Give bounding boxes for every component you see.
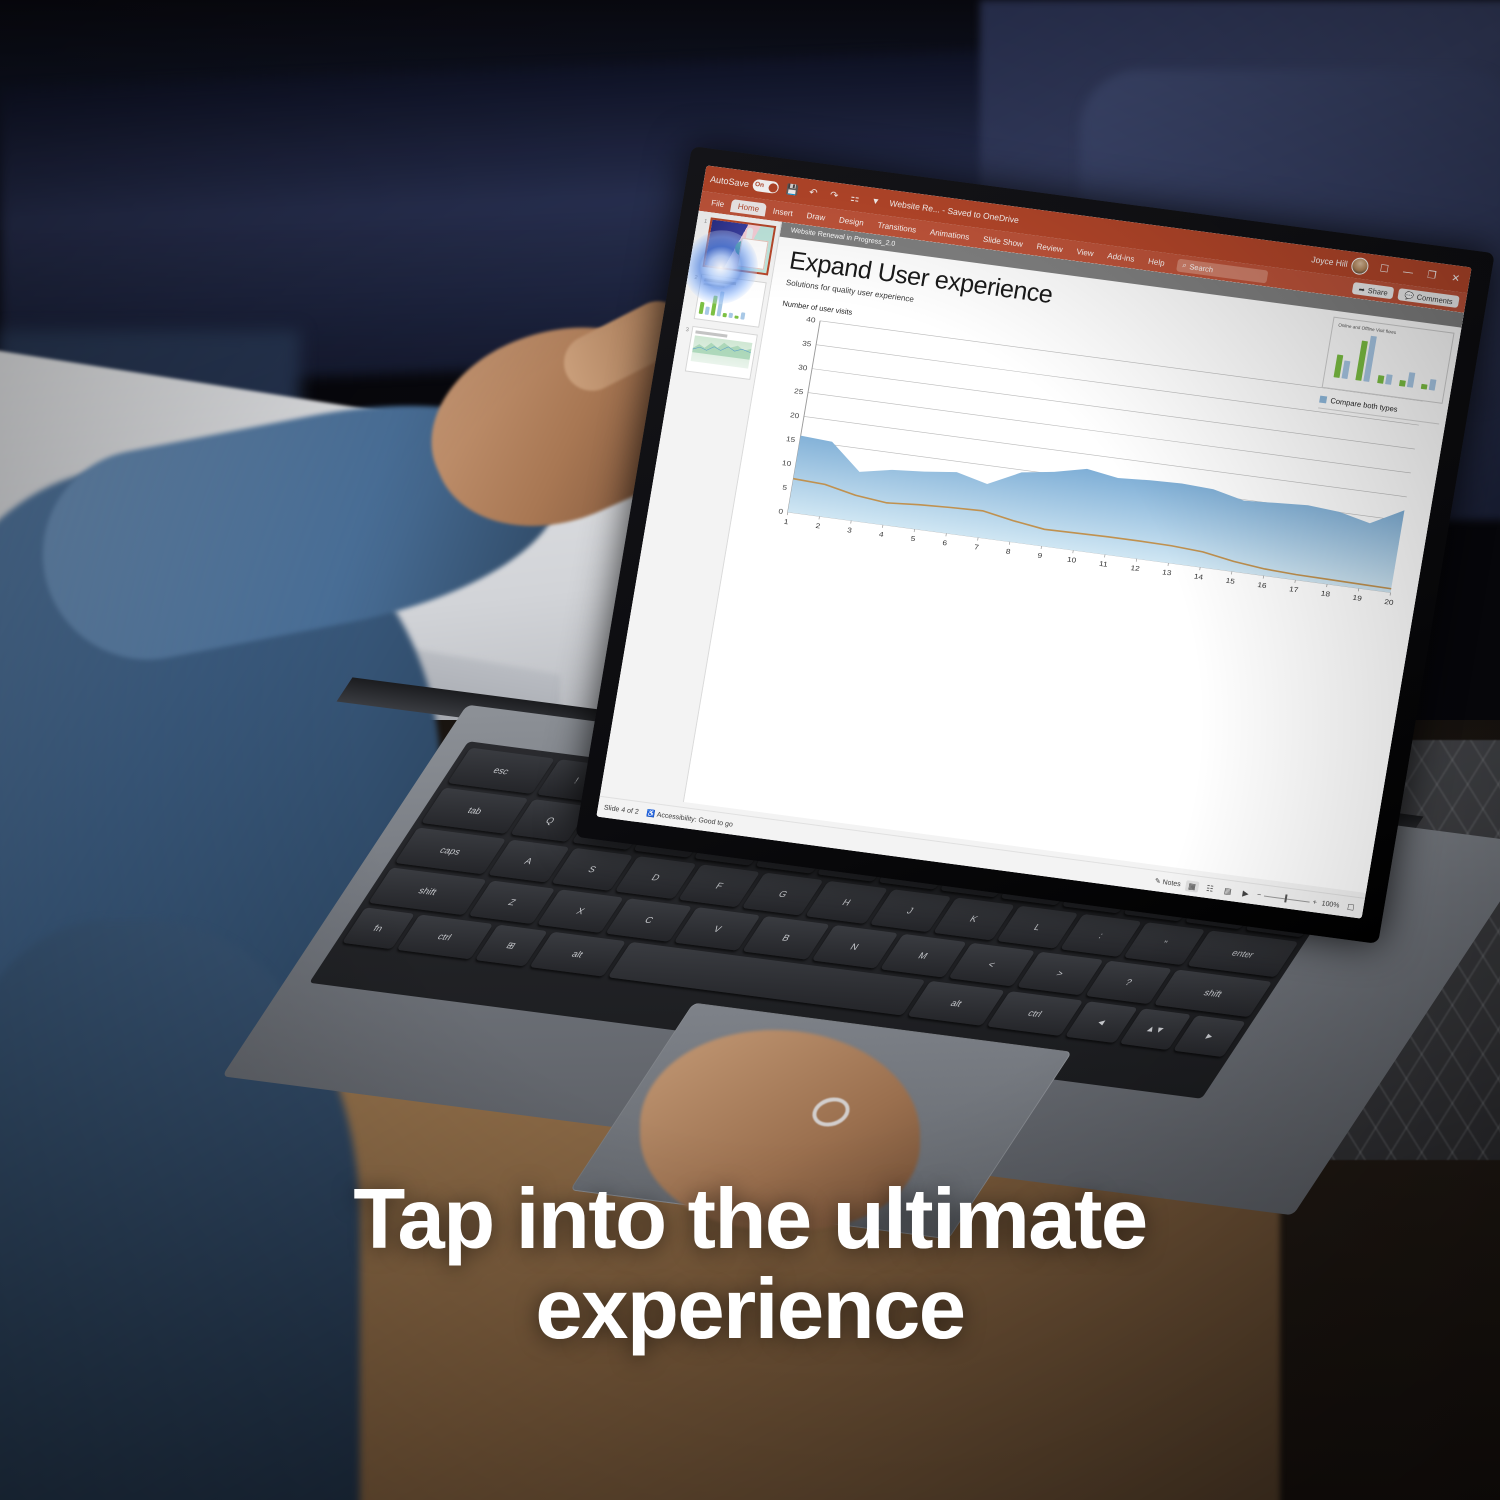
slide-canvas[interactable]: Website Renewal in Progress_2.0 Expand U… — [684, 222, 1464, 893]
svg-text:20: 20 — [1384, 598, 1394, 607]
svg-text:6: 6 — [942, 539, 948, 548]
svg-text:16: 16 — [1257, 581, 1267, 590]
close-button[interactable]: ✕ — [1447, 272, 1465, 285]
notes-icon: ✎ — [1154, 877, 1161, 886]
key-caps[interactable]: caps — [395, 828, 506, 875]
save-icon[interactable]: 💾 — [784, 182, 800, 198]
slide-sorter-icon[interactable]: ☷ — [1203, 882, 1218, 895]
svg-text:30: 30 — [798, 363, 808, 372]
tab-home[interactable]: Home — [730, 199, 767, 217]
svg-text:15: 15 — [1225, 576, 1235, 585]
svg-text:18: 18 — [1320, 589, 1330, 598]
work-area: 1 2 — [601, 211, 1464, 893]
inset-bar — [1428, 378, 1436, 390]
slide-preview-card — [737, 238, 768, 270]
share-label: Share — [1367, 286, 1388, 298]
chevron-down-icon[interactable]: ▾ — [868, 193, 884, 209]
slide-number: 3 — [682, 325, 689, 334]
svg-text:14: 14 — [1193, 572, 1204, 581]
normal-view-icon[interactable]: ▦ — [1185, 880, 1200, 893]
svg-text:10: 10 — [781, 459, 791, 468]
inset-bar — [1407, 372, 1415, 387]
fit-slide-icon[interactable]: ☐ — [1343, 901, 1358, 914]
current-slide[interactable]: Expand User experience Solutions for qua… — [684, 237, 1462, 893]
svg-text:3: 3 — [847, 526, 853, 535]
svg-text:11: 11 — [1098, 559, 1108, 568]
svg-text:13: 13 — [1162, 568, 1172, 577]
key-shift[interactable]: shift — [1154, 969, 1273, 1017]
search-placeholder: Search — [1189, 262, 1214, 274]
minimize-button[interactable]: — — [1399, 266, 1417, 279]
svg-text:1: 1 — [783, 517, 789, 526]
accessibility-icon: ♿ — [646, 810, 656, 818]
comments-label: Comments — [1416, 292, 1453, 306]
thumb-bar-chart — [699, 288, 761, 321]
inset-bar-chart[interactable]: Online and Offline Visit flows — [1322, 317, 1455, 404]
key-enter[interactable]: enter — [1187, 930, 1298, 977]
svg-text:12: 12 — [1130, 564, 1140, 573]
autosave-toggle[interactable]: On — [752, 179, 780, 194]
user-name: Joyce Hill — [1311, 254, 1349, 269]
thumb-area-chart — [691, 335, 753, 368]
ribbon-display-icon[interactable]: ☐ — [1375, 262, 1393, 275]
inset-bar-group — [1356, 335, 1377, 382]
thumb-subtitle-line — [703, 283, 724, 288]
slide-thumbnail-3[interactable] — [685, 326, 758, 380]
key-tab[interactable]: tab — [421, 788, 529, 834]
inset-bar-group — [1334, 355, 1351, 379]
zoom-in-button[interactable]: + — [1312, 899, 1317, 906]
share-button[interactable]: ➦ Share — [1352, 282, 1395, 299]
toggle-knob — [768, 182, 778, 192]
zoom-out-button[interactable]: − — [1256, 891, 1261, 898]
account-button[interactable]: Joyce Hill — [1310, 251, 1370, 275]
marketing-tagline: Tap into the ultimate experience — [0, 1175, 1500, 1355]
tagline-line-2: experience — [0, 1265, 1500, 1355]
slide-thumbnail-2[interactable] — [694, 274, 767, 328]
tab-insert[interactable]: Insert — [765, 203, 801, 220]
key-esc[interactable]: esc — [447, 748, 555, 794]
legend-swatch — [1319, 396, 1327, 404]
svg-text:19: 19 — [1352, 593, 1362, 602]
inset-bar-group — [1377, 373, 1392, 385]
svg-text:9: 9 — [1037, 551, 1043, 560]
svg-text:5: 5 — [910, 534, 916, 543]
slide-number: 1 — [701, 216, 708, 225]
zoom-slider[interactable]: − + — [1256, 891, 1317, 906]
tab-review[interactable]: Review — [1029, 238, 1071, 256]
inset-bar-group — [1399, 371, 1415, 387]
svg-text:35: 35 — [802, 339, 812, 348]
zoom-level[interactable]: 100% — [1321, 900, 1340, 909]
slide-position: Slide 4 of 2 — [603, 804, 639, 816]
laptop-screen: AutoSave On 💾 ↶ ↷ ⚏ ▾ Website Re... - Sa… — [596, 165, 1471, 918]
restore-button[interactable]: ❐ — [1423, 269, 1441, 282]
svg-text:2: 2 — [815, 522, 821, 531]
powerpoint-window: AutoSave On 💾 ↶ ↷ ⚏ ▾ Website Re... - Sa… — [596, 165, 1471, 918]
svg-text:20: 20 — [789, 411, 799, 420]
svg-text:7: 7 — [974, 543, 980, 552]
reading-view-icon[interactable]: ▤ — [1220, 884, 1235, 897]
svg-text:5: 5 — [782, 483, 788, 492]
inset-bar — [1385, 374, 1393, 385]
key-shift[interactable]: shift — [368, 867, 487, 915]
svg-text:10: 10 — [1066, 555, 1076, 564]
tagline-line-1: Tap into the ultimate — [0, 1175, 1500, 1265]
tab-view[interactable]: View — [1069, 244, 1102, 261]
slide-thumbnail-1[interactable] — [702, 217, 776, 275]
list-item[interactable]: 2 — [685, 272, 767, 327]
list-item[interactable]: 3 — [676, 325, 758, 380]
inset-bar — [1399, 380, 1406, 387]
svg-text:15: 15 — [785, 435, 795, 444]
share-icon: ➦ — [1358, 284, 1366, 294]
comment-icon: 💬 — [1404, 290, 1415, 300]
svg-text:40: 40 — [806, 315, 816, 324]
zoom-knob[interactable] — [1284, 894, 1287, 902]
tab-design[interactable]: Design — [831, 212, 872, 230]
autosave-label: AutoSave — [709, 174, 749, 189]
tab-draw[interactable]: Draw — [799, 208, 834, 225]
search-icon: ⌕ — [1182, 260, 1188, 270]
svg-text:8: 8 — [1005, 547, 1011, 556]
svg-text:25: 25 — [794, 387, 804, 396]
svg-text:0: 0 — [778, 507, 784, 516]
inset-bar — [1377, 375, 1384, 384]
notes-button[interactable]: ✎ Notes — [1154, 877, 1181, 888]
inset-bar — [1421, 384, 1428, 390]
redo-icon[interactable]: ↷ — [826, 188, 842, 204]
tab-help[interactable]: Help — [1140, 253, 1172, 270]
samsung-laptop: esc!@#$%^&*()—+⌫ tabQWERTYUIOP{}| capsAS… — [330, 190, 1460, 1150]
undo-icon[interactable]: ↶ — [805, 185, 821, 201]
inset-bar-group — [1421, 377, 1436, 390]
slide-show-icon[interactable]: ▶ — [1238, 887, 1253, 900]
slide-number: 2 — [691, 272, 698, 281]
promo-image: esc!@#$%^&*()—+⌫ tabQWERTYUIOP{}| capsAS… — [0, 0, 1500, 1500]
inset-bar — [1341, 361, 1350, 379]
avatar — [1350, 256, 1370, 275]
present-icon[interactable]: ⚏ — [847, 190, 863, 206]
autosave-control[interactable]: AutoSave On — [709, 173, 779, 194]
notes-label: Notes — [1162, 879, 1181, 888]
zoom-track[interactable] — [1264, 895, 1310, 902]
tab-add-ins[interactable]: Add-ins — [1100, 248, 1143, 266]
tab-file[interactable]: File — [703, 195, 732, 211]
svg-text:4: 4 — [878, 530, 885, 539]
autosave-state: On — [754, 181, 764, 189]
list-item[interactable]: 1 — [694, 216, 777, 275]
inset-chart-group[interactable]: Online and Offline Visit flows Compare b… — [1318, 317, 1454, 425]
accessibility-label: Accessibility: Good to go — [656, 812, 733, 829]
svg-text:17: 17 — [1289, 585, 1299, 594]
